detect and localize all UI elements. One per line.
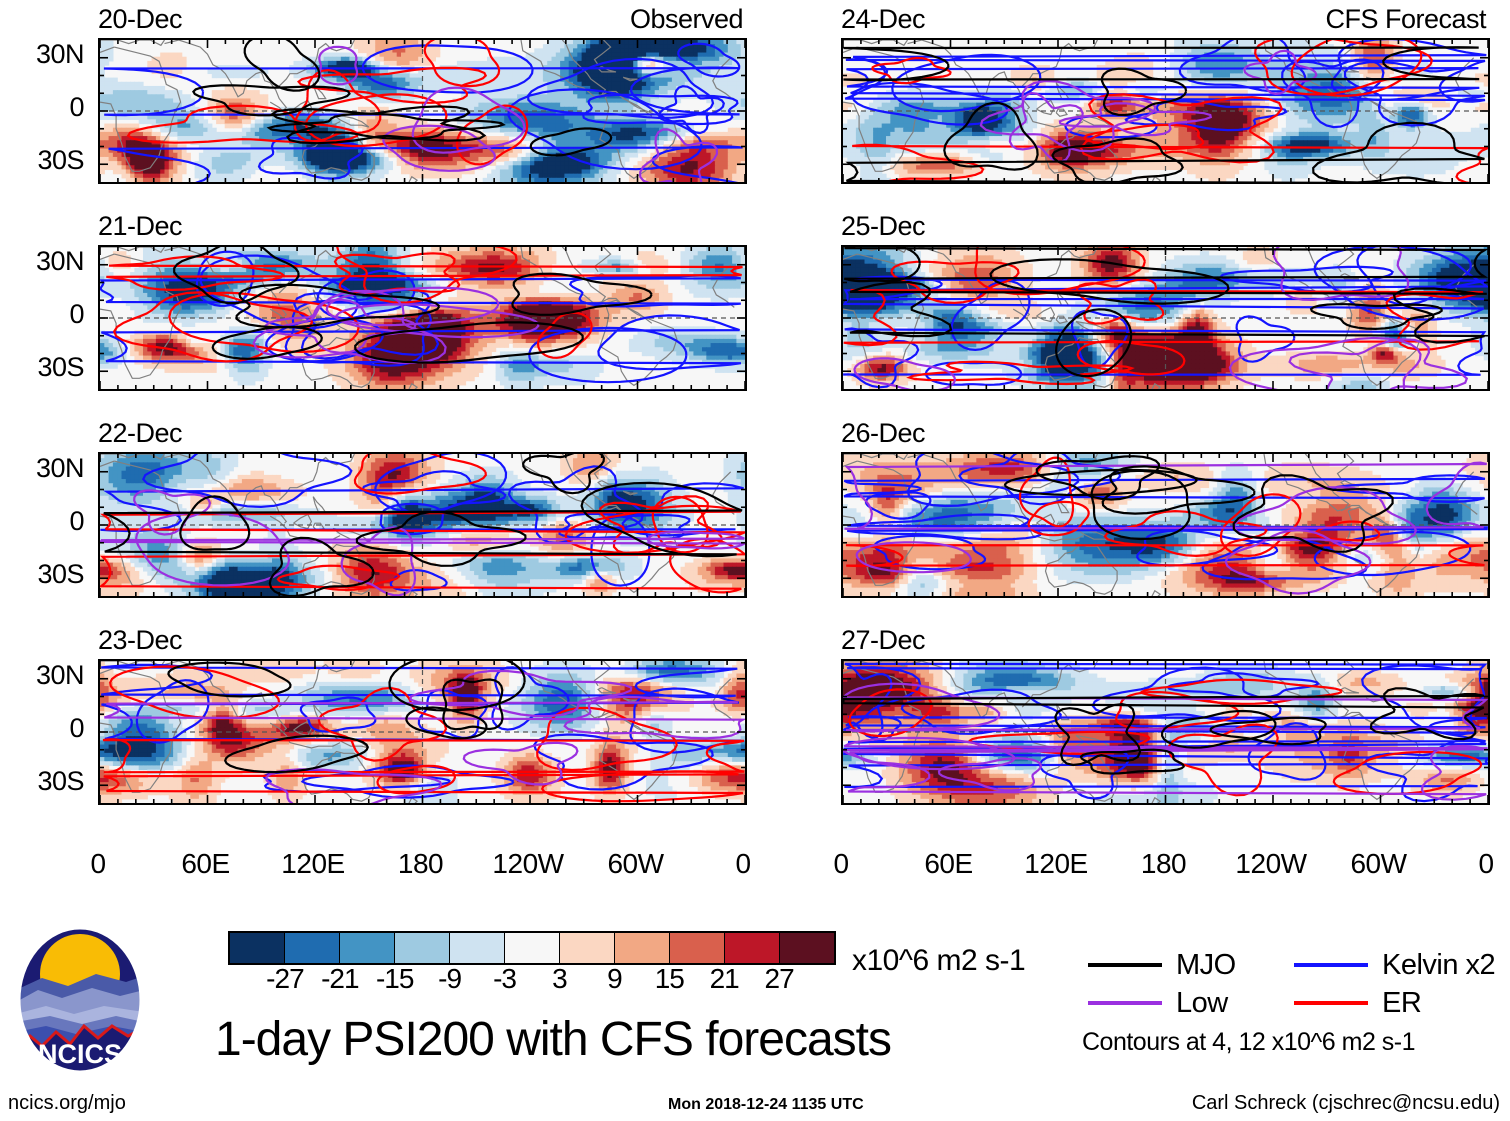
x-axis: 060E120E180120W60W0 bbox=[98, 836, 743, 888]
colorbar-cell-1 bbox=[285, 933, 340, 963]
y-axis-tick-label: 0 bbox=[0, 301, 84, 328]
panel-date-label: 21-Dec bbox=[98, 213, 182, 240]
ncics-logo: NCICS bbox=[16, 926, 144, 1074]
colorbar-cell-10 bbox=[780, 933, 834, 963]
legend-item-mjo: MJO bbox=[1088, 951, 1294, 980]
contour-legend: MJO Kelvin x2 Low ER bbox=[1088, 946, 1500, 1022]
x-axis-tick-label: 0 bbox=[833, 850, 848, 878]
y-axis-tick-label: 30S bbox=[0, 561, 84, 588]
legend-label-low: Low bbox=[1176, 989, 1228, 1018]
legend-label-er: ER bbox=[1382, 989, 1421, 1018]
x-axis-tick-label: 120W bbox=[1235, 850, 1306, 878]
colorbar-tick-label: 21 bbox=[710, 965, 739, 993]
colorbar-tick-label: -9 bbox=[438, 965, 461, 993]
x-axis-tick-label: 60E bbox=[181, 850, 229, 878]
colorbar-units-label: x10^6 m2 s-1 bbox=[852, 944, 1025, 978]
colorbar-tick-label: 9 bbox=[607, 965, 622, 993]
panel-date-label: 26-Dec bbox=[841, 420, 925, 447]
column-header: CFS Forecast bbox=[1325, 6, 1486, 33]
legend-item-er: ER bbox=[1294, 989, 1500, 1018]
y-axis-tick-label: 0 bbox=[0, 715, 84, 742]
legend-item-low: Low bbox=[1088, 989, 1294, 1018]
colorbar-cell-4 bbox=[450, 933, 505, 963]
y-axis-tick-label: 30N bbox=[0, 248, 84, 275]
footer-author: Carl Schreck (cjschrec@ncsu.edu) bbox=[1192, 1092, 1500, 1115]
kelvin-line-icon bbox=[1294, 963, 1368, 967]
mjo-line-icon bbox=[1088, 963, 1162, 967]
y-axis-tick-label: 0 bbox=[0, 94, 84, 121]
panel-date-label: 20-Dec bbox=[98, 6, 182, 33]
legend-row: MJO Kelvin x2 bbox=[1088, 946, 1500, 984]
panel-date-label: 22-Dec bbox=[98, 420, 182, 447]
colorbar-tick-label: 3 bbox=[552, 965, 567, 993]
colorbar-tick-label: 15 bbox=[655, 965, 684, 993]
colorbar-tick-label: -15 bbox=[376, 965, 413, 993]
colorbar-cell-5 bbox=[505, 933, 560, 963]
x-axis-tick-label: 120E bbox=[281, 850, 344, 878]
x-axis-tick-label: 60W bbox=[1350, 850, 1406, 878]
y-axis-tick-label: 30N bbox=[0, 662, 84, 689]
x-axis-tick-label: 120W bbox=[492, 850, 563, 878]
legend-item-kelvin: Kelvin x2 bbox=[1294, 951, 1500, 980]
colorbar-tick-label: -21 bbox=[321, 965, 358, 993]
x-axis-tick-label: 60W bbox=[607, 850, 663, 878]
y-axis-tick-label: 30N bbox=[0, 41, 84, 68]
colorbar-cell-9 bbox=[725, 933, 780, 963]
map-plot-area bbox=[98, 452, 747, 598]
legend-label-kelvin: Kelvin x2 bbox=[1382, 951, 1495, 980]
panel-date-label: 24-Dec bbox=[841, 6, 925, 33]
colorbar: -27-21-15-9-339152127 bbox=[228, 931, 836, 965]
map-plot-area bbox=[98, 659, 747, 805]
colorbar-cell-6 bbox=[560, 933, 615, 963]
er-line-icon bbox=[1294, 1001, 1368, 1005]
colorbar-swatches bbox=[228, 931, 836, 965]
legend-label-mjo: MJO bbox=[1176, 951, 1236, 980]
y-axis-tick-label: 0 bbox=[0, 508, 84, 535]
page-title: 1-day PSI200 with CFS forecasts bbox=[215, 1012, 891, 1067]
map-plot-area bbox=[841, 659, 1490, 805]
y-axis-tick-label: 30S bbox=[0, 147, 84, 174]
map-plot-area bbox=[98, 38, 747, 184]
y-axis-tick-label: 30N bbox=[0, 455, 84, 482]
y-axis-tick-label: 30S bbox=[0, 768, 84, 795]
low-line-icon bbox=[1088, 1001, 1162, 1005]
map-plot-area bbox=[841, 245, 1490, 391]
x-axis-tick-label: 0 bbox=[735, 850, 750, 878]
legend-row: Low ER bbox=[1088, 984, 1500, 1022]
x-axis-tick-label: 120E bbox=[1024, 850, 1087, 878]
map-plot-area bbox=[841, 452, 1490, 598]
map-plot-area bbox=[98, 245, 747, 391]
x-axis-tick-label: 0 bbox=[1478, 850, 1493, 878]
colorbar-cell-8 bbox=[670, 933, 725, 963]
panel-date-label: 23-Dec bbox=[98, 627, 182, 654]
x-axis-tick-label: 0 bbox=[90, 850, 105, 878]
colorbar-cell-7 bbox=[615, 933, 670, 963]
colorbar-tick-label: 27 bbox=[765, 965, 794, 993]
contour-interval-note: Contours at 4, 12 x10^6 m2 s-1 bbox=[1082, 1028, 1415, 1057]
colorbar-cell-0 bbox=[230, 933, 285, 963]
colorbar-cell-3 bbox=[395, 933, 450, 963]
x-axis-tick-label: 180 bbox=[1141, 850, 1186, 878]
y-axis-tick-label: 30S bbox=[0, 354, 84, 381]
colorbar-tick-label: -27 bbox=[266, 965, 303, 993]
map-plot-area bbox=[841, 38, 1490, 184]
x-axis: 060E120E180120W60W0 bbox=[841, 836, 1486, 888]
colorbar-cell-2 bbox=[340, 933, 395, 963]
x-axis-tick-label: 60E bbox=[924, 850, 972, 878]
panel-date-label: 25-Dec bbox=[841, 213, 925, 240]
column-header: Observed bbox=[630, 6, 743, 33]
colorbar-tick-label: -3 bbox=[493, 965, 516, 993]
panel-date-label: 27-Dec bbox=[841, 627, 925, 654]
footer-site-url: ncics.org/mjo bbox=[8, 1092, 126, 1115]
logo-text: NCICS bbox=[38, 1039, 122, 1069]
footer-timestamp: Mon 2018-12-24 1135 UTC bbox=[668, 1096, 864, 1114]
x-axis-tick-label: 180 bbox=[398, 850, 443, 878]
